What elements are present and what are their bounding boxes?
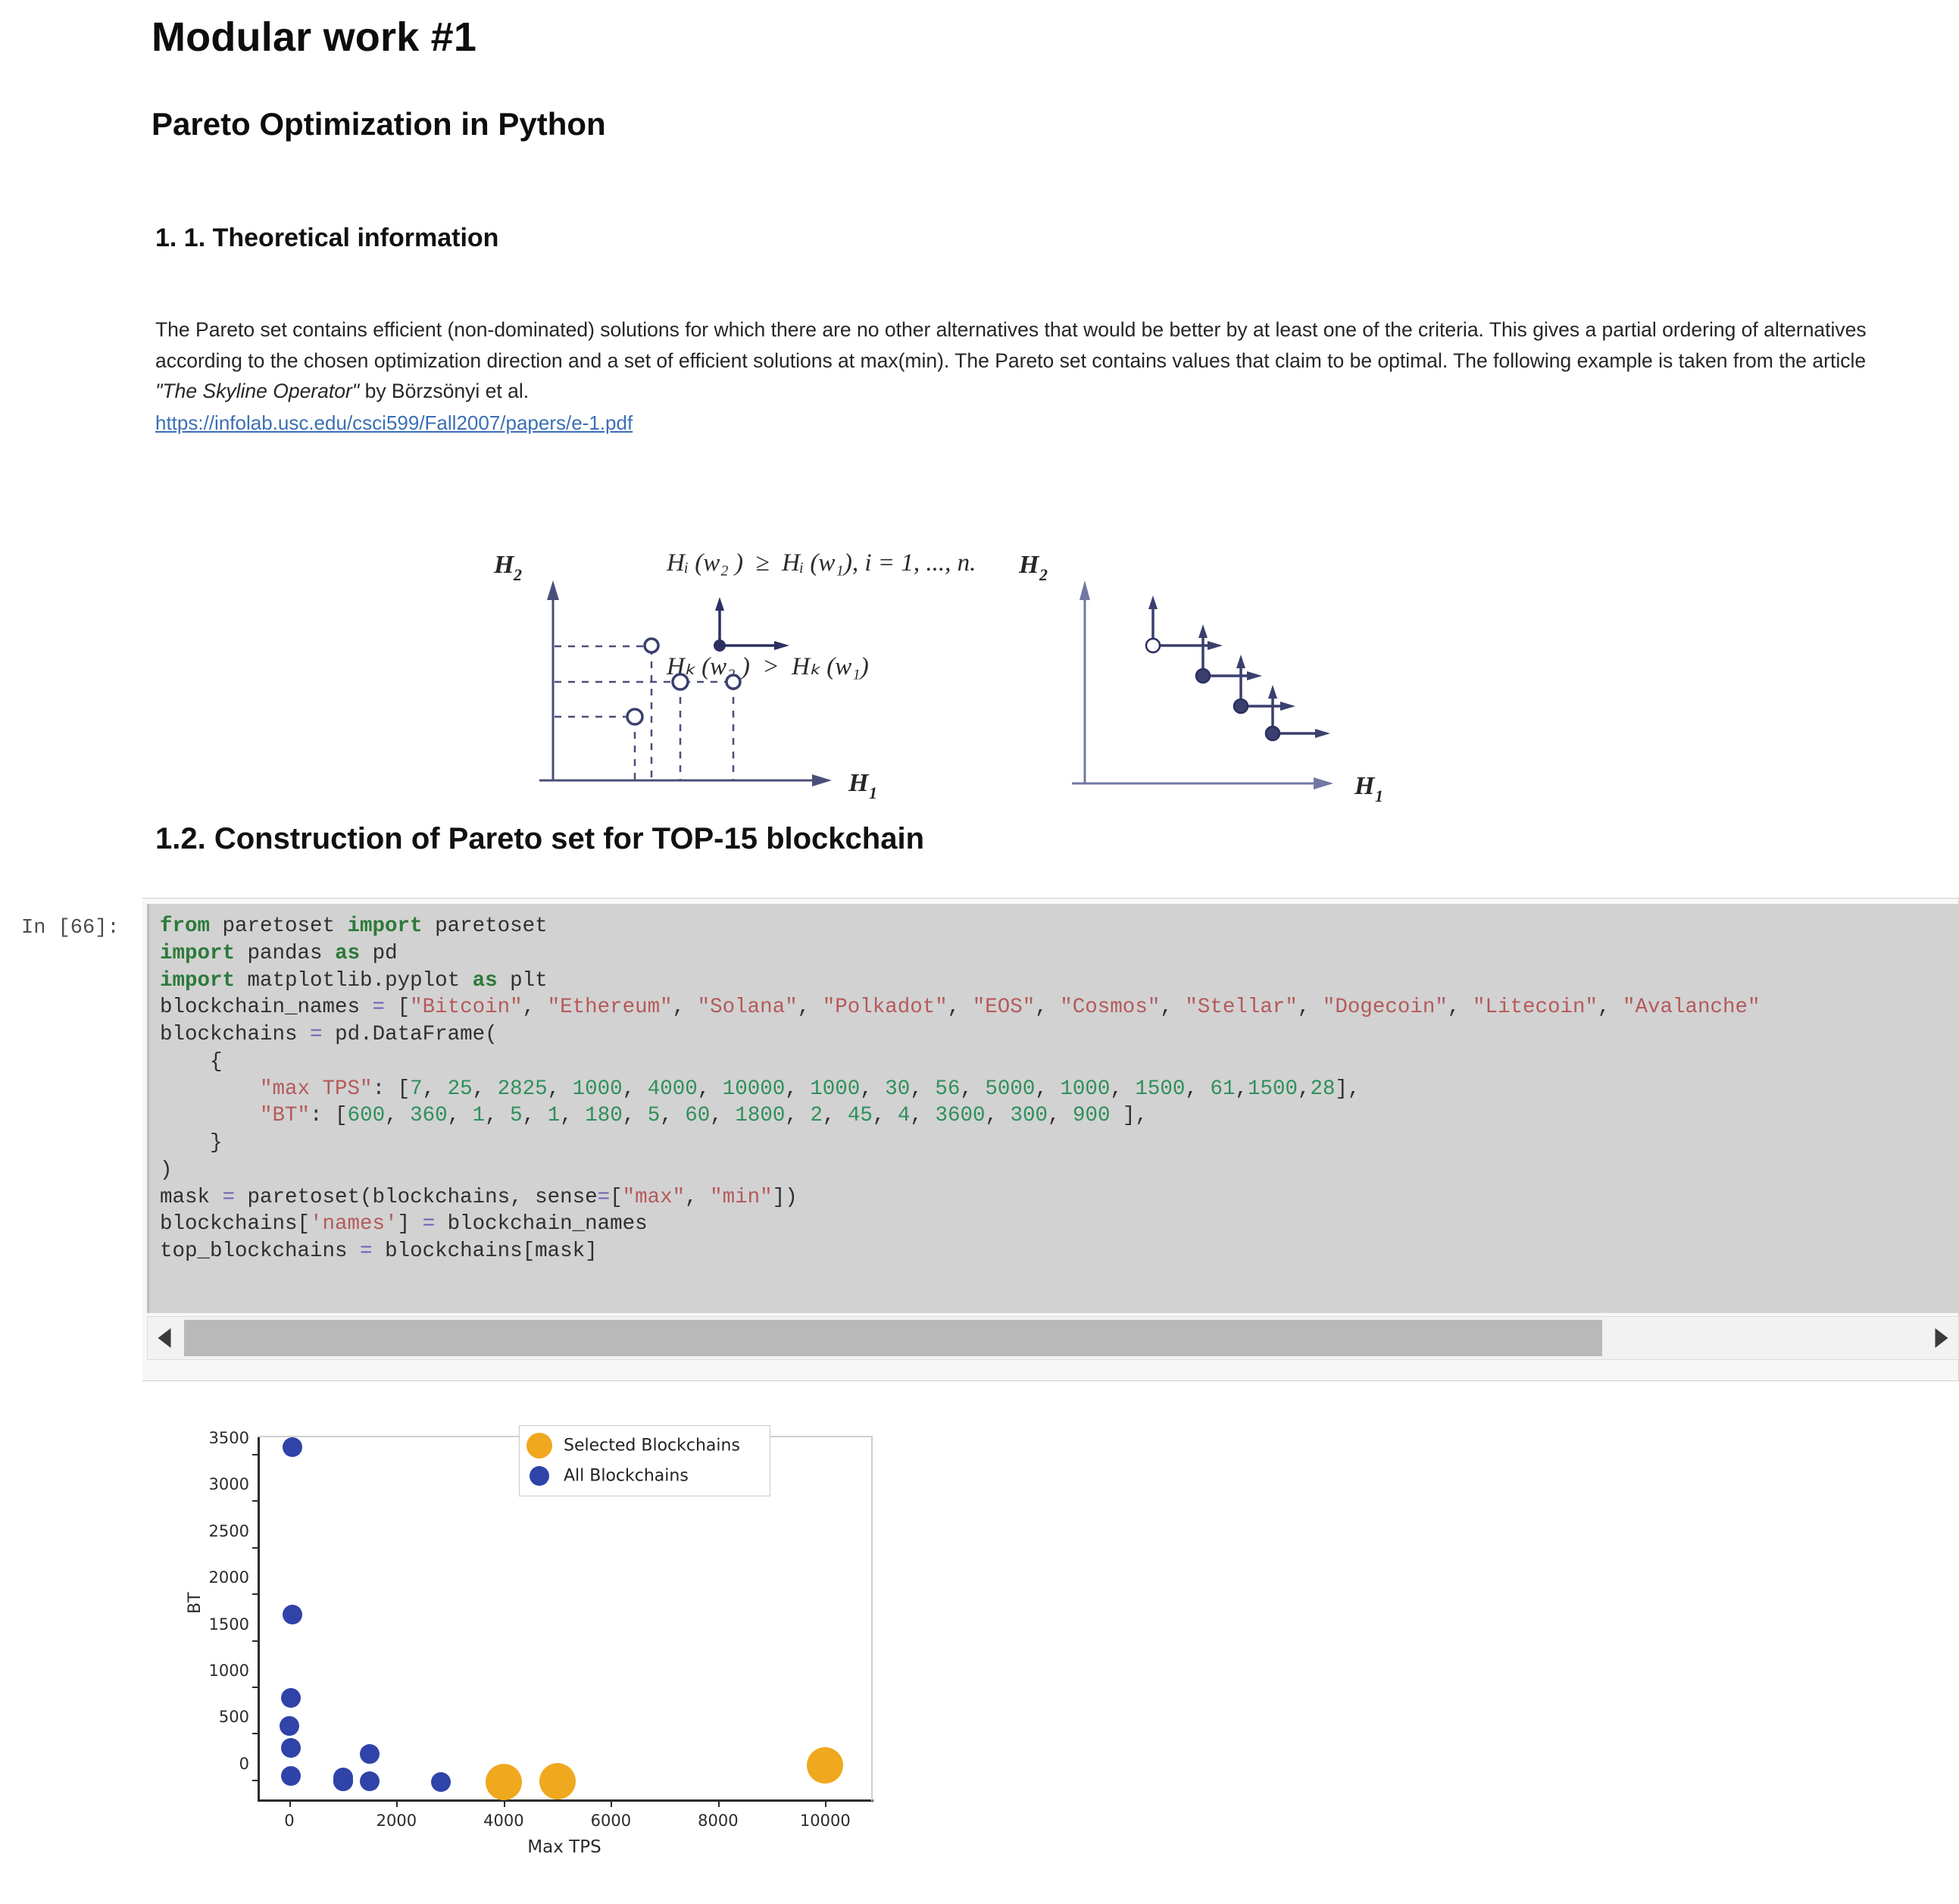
legend-label-all: All Blockchains [564,1467,689,1486]
page-subtitle: Pareto Optimization in Python [152,106,606,142]
notebook-page: Modular work #1 Pareto Optimization in P… [0,0,1959,1904]
chart-x-tick-label: 4000 [483,1812,523,1830]
legend-entry-all: All Blockchains [520,1461,770,1491]
code-horizontal-scrollbar[interactable] [147,1316,1959,1360]
pareto-diagram-svg: H 2 H 1 [470,530,1500,811]
scroll-left-arrow-icon[interactable] [148,1317,181,1359]
section-heading-construction: 1.2. Construction of Pareto set for TOP-… [155,822,924,856]
chart-x-tick-mark [611,1799,612,1807]
chart-data-point [486,1764,522,1800]
notebook-code-cell[interactable]: In [66]: from paretoset import paretoset… [0,898,1959,1383]
chart-x-tick-mark [289,1799,291,1807]
chart-y-tick-mark [252,1547,260,1549]
scrollbar-thumb[interactable] [184,1320,1602,1356]
chart-data-point [281,1688,301,1708]
svg-text:1: 1 [1375,786,1383,805]
theory-paragraph: The Pareto set contains efficient (non-d… [155,314,1898,438]
chart-x-tick-mark [718,1799,720,1807]
code-source[interactable]: from paretoset import paretoset import p… [149,904,1959,1265]
chart-y-tick-label: 0 [239,1755,249,1773]
svg-text:H: H [1354,772,1376,800]
chart-y-tick-mark [252,1500,260,1502]
chart-data-point [360,1771,380,1791]
scroll-right-arrow-icon[interactable] [1925,1317,1958,1359]
pareto-diagram-figure: H 2 H 1 [470,530,1500,811]
cell-input-prompt: In [66]: [21,917,120,939]
chart-y-tick-mark [252,1780,260,1781]
chart-y-tick-label: 3000 [209,1475,249,1493]
legend-label-selected: Selected Blockchains [564,1437,740,1455]
chart-x-tick-mark [396,1799,398,1807]
svg-text:1: 1 [869,783,877,802]
chart-data-point [431,1772,451,1792]
legend-marker-all-icon [530,1466,549,1486]
paragraph-text-part2: by Börzsönyi et al. [359,380,529,402]
chart-x-tick-label: 2000 [376,1812,417,1830]
chart-y-tick-mark [252,1733,260,1734]
chart-x-tick-mark [825,1799,826,1807]
section-heading-theoretical: 1. 1. Theoretical information [155,224,498,253]
chart-data-point [807,1747,843,1784]
chart-y-tick-mark [252,1687,260,1688]
legend-entry-selected: Selected Blockchains [520,1430,770,1461]
chart-y-tick-mark [252,1640,260,1642]
chart-output-figure: BT Max TPS 05001000150020002500300035000… [163,1413,890,1883]
chart-y-tick-mark [252,1454,260,1455]
chart-x-tick-label: 6000 [591,1812,631,1830]
chart-data-point [281,1738,301,1758]
chart-data-point [360,1744,380,1764]
chart-y-tick-mark [252,1593,260,1595]
svg-text:2: 2 [1039,565,1048,584]
chart-data-point [280,1716,299,1736]
code-editor-area[interactable]: from paretoset import paretoset import p… [147,904,1959,1313]
svg-text:H: H [848,769,870,797]
chart-x-tick-label: 8000 [698,1812,738,1830]
chart-data-point [283,1437,302,1457]
reference-link[interactable]: https://infolab.usc.edu/csci599/Fall2007… [155,408,633,439]
chart-legend: Selected Blockchains All Blockchains [519,1425,770,1496]
chart-y-tick-label: 3500 [209,1429,249,1447]
chart-y-tick-label: 500 [219,1708,249,1726]
chart-data-point [281,1766,301,1786]
chart-y-tick-label: 1000 [209,1662,249,1680]
chart-y-tick-label: 2000 [209,1568,249,1587]
legend-marker-selected-icon [526,1433,552,1458]
chart-data-point [283,1605,302,1624]
chart-x-axis-label: Max TPS [527,1837,601,1857]
chart-data-point [539,1763,576,1799]
page-title: Modular work #1 [152,14,476,61]
svg-text:2: 2 [513,565,522,584]
paragraph-text-part1: The Pareto set contains efficient (non-d… [155,318,1867,372]
chart-x-tick-label: 0 [284,1812,294,1830]
chart-x-tick-mark [504,1799,505,1807]
chart-y-axis-label: BT [186,1592,205,1614]
svg-text:H: H [493,551,515,579]
paragraph-quote: "The Skyline Operator" [155,380,359,402]
chart-x-tick-label: 10000 [800,1812,851,1830]
chart-y-tick-label: 1500 [209,1615,249,1634]
chart-y-tick-label: 2500 [209,1522,249,1540]
svg-text:H: H [1018,551,1040,579]
chart-data-point [333,1768,353,1787]
